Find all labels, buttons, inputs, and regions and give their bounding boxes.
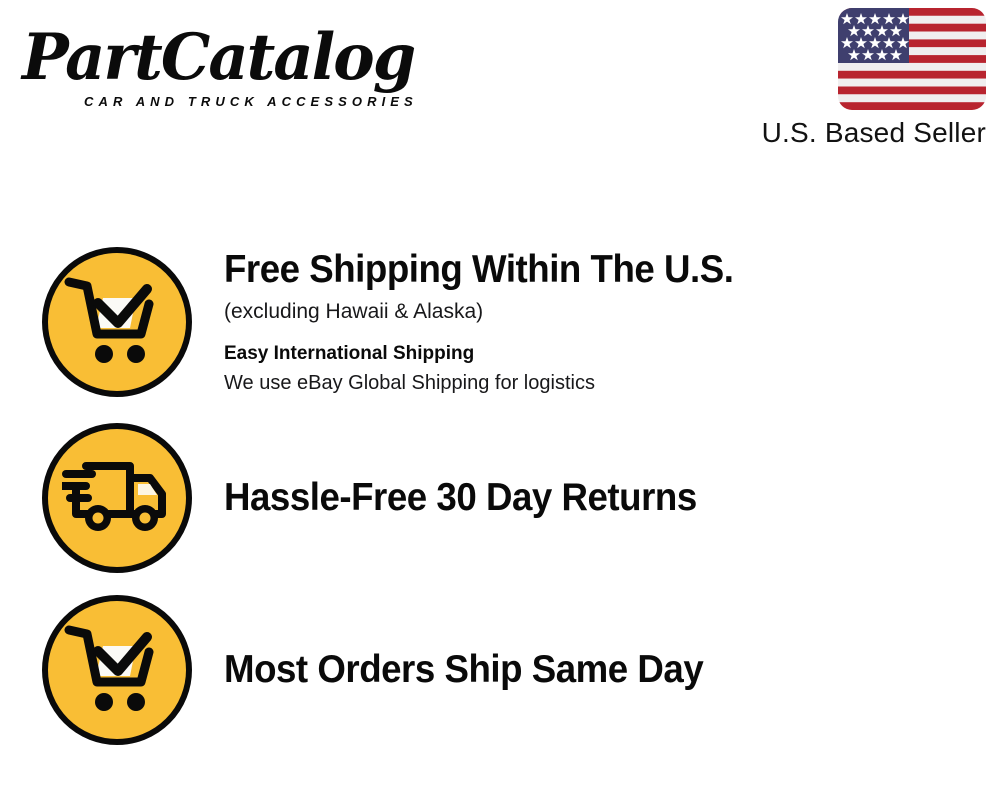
feature-text-same-day: Most Orders Ship Same Day [224, 647, 1000, 693]
shopping-cart-check-icon [42, 595, 192, 745]
feature-row-same-day: Most Orders Ship Same Day [0, 584, 1000, 756]
us-flag-icon [838, 8, 986, 110]
banner-header: PartCatalog CAR AND TRUCK ACCESSORIES [0, 0, 1000, 170]
feature-title: Free Shipping Within The U.S. [224, 247, 953, 293]
feature-text-free-shipping: Free Shipping Within The U.S. (excluding… [224, 247, 1000, 397]
feature-row-free-shipping: Free Shipping Within The U.S. (excluding… [0, 232, 1000, 412]
feature-title: Hassle-Free 30 Day Returns [224, 475, 953, 521]
feature-text-returns: Hassle-Free 30 Day Returns [224, 475, 1000, 521]
feature-list: Free Shipping Within The U.S. (excluding… [0, 232, 1000, 756]
brand-name: PartCatalog [22, 22, 488, 94]
feature-note: We use eBay Global Shipping for logistic… [224, 369, 1000, 397]
seller-label: U.S. Based Seller [762, 116, 986, 150]
feature-row-returns: Hassle-Free 30 Day Returns [0, 412, 1000, 584]
feature-subtitle: (excluding Hawaii & Alaska) [224, 297, 1000, 327]
delivery-truck-icon [42, 423, 192, 573]
promotional-banner: PartCatalog CAR AND TRUCK ACCESSORIES [0, 0, 1000, 800]
brand-logo: PartCatalog CAR AND TRUCK ACCESSORIES [22, 22, 502, 118]
feature-title: Most Orders Ship Same Day [224, 647, 953, 693]
feature-subhead: Easy International Shipping [224, 341, 1000, 367]
shopping-cart-check-icon [42, 247, 192, 397]
us-based-seller-block: U.S. Based Seller [762, 8, 986, 150]
brand-tagline: CAR AND TRUCK ACCESSORIES [84, 94, 418, 109]
